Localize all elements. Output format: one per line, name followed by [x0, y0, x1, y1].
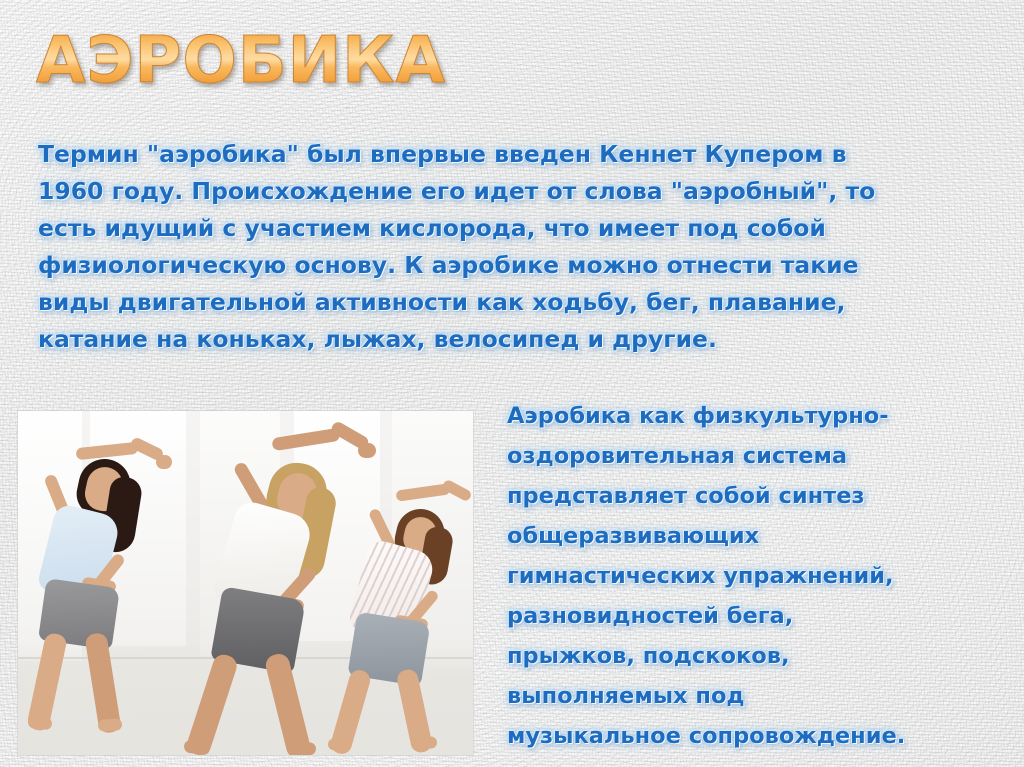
paragraph-line: общеразвивающих	[507, 516, 1007, 556]
paragraph-line: физиологическую основу. К аэробике можно…	[38, 247, 898, 284]
page-title: АЭРОБИКА	[36, 24, 446, 98]
paragraph-line: Термин "аэробика" был впервые введен Кен…	[38, 136, 898, 173]
paragraph-line: гимнастических упражнений,	[507, 556, 1007, 596]
main-paragraph: Термин "аэробика" был впервые введен Кен…	[38, 136, 898, 358]
paragraph-line: музыкальное сопровождение.	[507, 716, 1007, 756]
paragraph-line: выполняемых под	[507, 676, 1007, 716]
paragraph-line: катание на коньках, лыжах, велосипед и д…	[38, 321, 898, 358]
paragraph-line: есть идущий с участием кислорода, что им…	[38, 210, 898, 247]
paragraph-line: разновидностей бега,	[507, 596, 1007, 636]
presentation-slide: АЭРОБИКА Термин "аэробика" был впервые в…	[0, 0, 1024, 767]
aerobics-photo	[18, 411, 473, 755]
paragraph-line: 1960 году. Происхождение его идет от сло…	[38, 173, 898, 210]
paragraph-line: оздоровительная система	[507, 436, 1007, 476]
paragraph-line: Аэробика как физкультурно-	[507, 396, 1007, 436]
side-paragraph: Аэробика как физкультурно- оздоровительн…	[507, 396, 1007, 756]
paragraph-line: прыжков, подскоков,	[507, 636, 1007, 676]
paragraph-line: виды двигательной активности как ходьбу,…	[38, 284, 898, 321]
paragraph-line: представляет собой синтез	[507, 476, 1007, 516]
